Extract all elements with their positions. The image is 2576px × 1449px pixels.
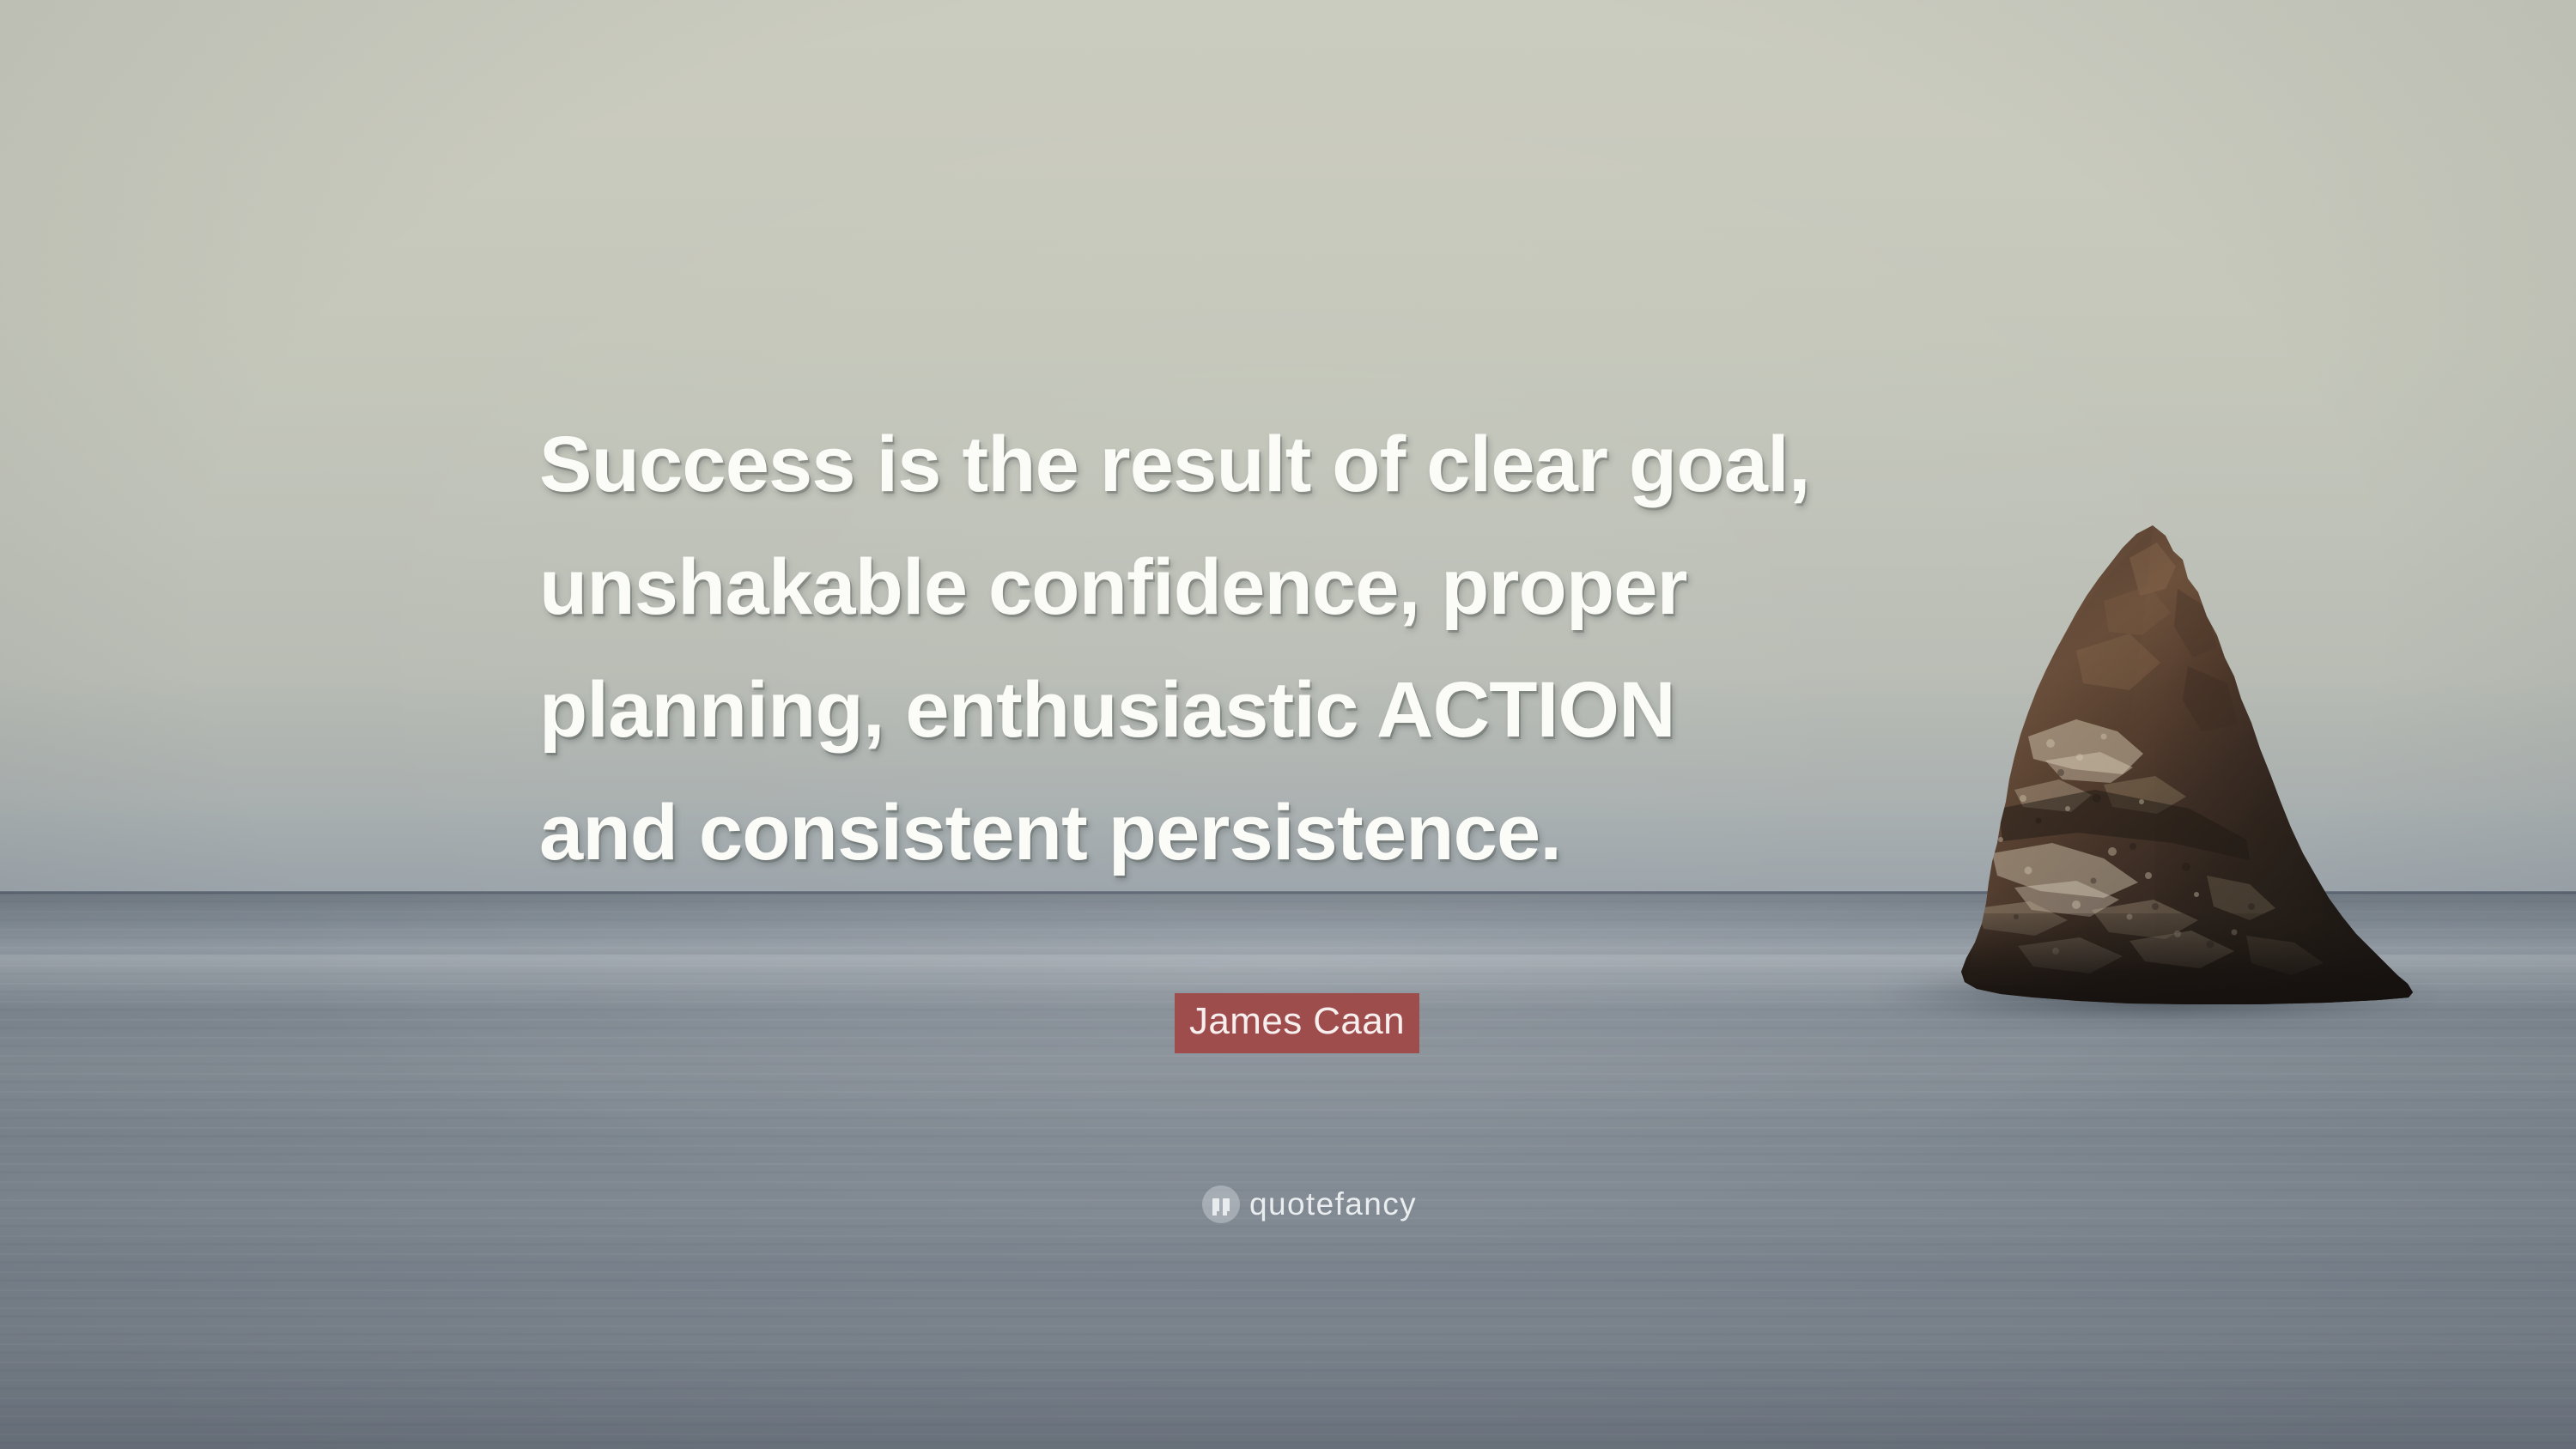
quote-mark-glyphs [1212, 1198, 1230, 1211]
quote-mark-icon [1202, 1185, 1240, 1223]
author-name-badge[interactable]: James Caan [1175, 993, 1419, 1053]
quotefancy-brand-text: quotefancy [1249, 1187, 1417, 1222]
quote-text-block: Success is the result of clear goal, uns… [539, 403, 2111, 894]
quote-line-1: Success is the result of clear goal, [539, 403, 2111, 526]
quote-line-3: planning, enthusiastic ACTION [539, 649, 2111, 772]
quote-wallpaper: Success is the result of clear goal, uns… [0, 0, 2576, 1449]
quotefancy-watermark[interactable]: quotefancy [1202, 1185, 1417, 1223]
quote-mark-right [1223, 1198, 1230, 1211]
quote-line-2: unshakable confidence, proper [539, 526, 2111, 649]
quote-line-4: and consistent persistence. [539, 772, 2111, 894]
quote-mark-left [1212, 1198, 1219, 1211]
